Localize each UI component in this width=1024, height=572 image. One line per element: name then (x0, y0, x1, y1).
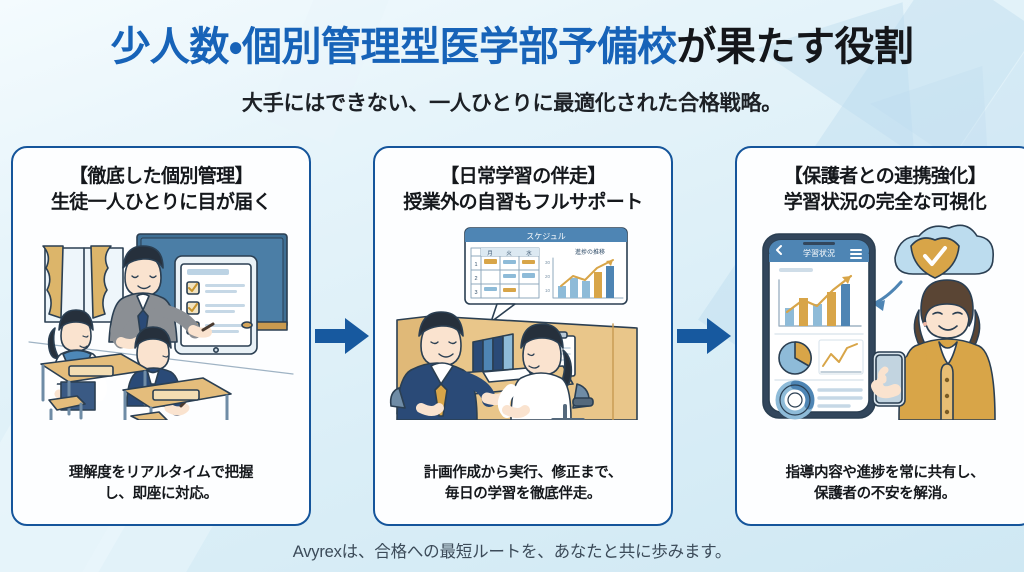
card-title-line1: 【徹底した個別管理】 (69, 166, 253, 187)
card-caption: 指導内容や進捗を常に共有し、 保護者の不安を解消。 (737, 463, 1024, 507)
footer-note: Avyrexは、合格への最短ルートを、あなたと共に歩みます。 (0, 538, 1024, 562)
card-title-line1: 【保護者との連携強化】 (784, 166, 986, 187)
card-caption-line2: 保護者の不安を解消。 (751, 484, 1019, 506)
feature-card-parent-collaboration: 【保護者との連携強化】 学習状況の完全な可視化 (735, 146, 1024, 526)
svg-text:水: 水 (526, 249, 532, 257)
progress-chart-title: 進捗の推移 (575, 248, 605, 256)
card-title-line2: 学習状況の完全な可視化 (784, 190, 986, 216)
page-title: 少人数・個別管理型医学部予備校が果たす役割 (0, 24, 1024, 71)
connector-arrow-2 (673, 146, 735, 526)
card-caption-line2: 毎日の学習を徹底伴走。 (389, 484, 657, 506)
connector-arrow-1 (311, 146, 373, 526)
page-header: 少人数・個別管理型医学部予備校が果たす役割 大手にはできない、一人ひとりに最適化… (0, 0, 1024, 117)
svg-text:月: 月 (487, 250, 493, 257)
svg-text:3: 3 (474, 290, 477, 296)
arrow-right-icon (315, 316, 369, 356)
card-caption-line1: 指導内容や進捗を常に共有し、 (786, 465, 985, 481)
app-header-title: 学習状況 (803, 248, 835, 258)
feature-cards-row: 【徹底した個別管理】 生徒一人ひとりに目が届く (0, 146, 1024, 526)
card-title-line2: 授業外の自習もフルサポート (403, 190, 642, 216)
svg-text:2: 2 (474, 276, 477, 282)
page-title-highlight: 少人数・個別管理型医学部予備校 (110, 25, 676, 69)
card-title: 【徹底した個別管理】 生徒一人ひとりに目が届く (51, 164, 271, 216)
classroom-teacher-tablet-checklist-illustration (25, 224, 297, 420)
card-title: 【日常学習の伴走】 授業外の自習もフルサポート (403, 164, 642, 216)
svg-text:火: 火 (506, 251, 512, 257)
svg-text:1: 1 (474, 262, 477, 268)
arrow-right-icon (677, 316, 731, 356)
card-caption-line1: 計画作成から実行、修正まで、 (424, 465, 622, 481)
smartphone-dashboard-parent-cloud-shield-illustration: 学習状況 (749, 224, 1021, 420)
page-subtitle: 大手にはできない、一人ひとりに最適化された合格戦略。 (0, 87, 1024, 117)
schedule-panel-title: スケジュル (526, 232, 565, 241)
svg-text:10: 10 (545, 288, 551, 293)
card-title-line2: 生徒一人ひとりに目が届く (51, 190, 271, 216)
card-caption: 理解度をリアルタイムで把握 し、即座に対応。 (13, 463, 309, 507)
svg-text:30: 30 (545, 260, 551, 265)
study-booth-tutor-student-schedule-panel-illustration: スケジュル 月 火 水 1 2 3 (387, 224, 659, 420)
feature-card-individual-management: 【徹底した個別管理】 生徒一人ひとりに目が届く (11, 146, 311, 526)
feature-card-daily-study-support: 【日常学習の伴走】 授業外の自習もフルサポート スケジュル (373, 146, 673, 526)
card-title: 【保護者との連携強化】 学習状況の完全な可視化 (784, 164, 986, 216)
card-caption: 計画作成から実行、修正まで、 毎日の学習を徹底伴走。 (375, 463, 671, 507)
card-caption-line2: し、即座に対応。 (27, 484, 295, 506)
svg-text:20: 20 (545, 274, 551, 279)
card-title-line1: 【日常学習の伴走】 (440, 166, 606, 187)
card-caption-line1: 理解度をリアルタイムで把握 (69, 465, 253, 481)
slide-canvas: 少人数・個別管理型医学部予備校が果たす役割 大手にはできない、一人ひとりに最適化… (0, 0, 1024, 572)
page-title-dark: が果たす役割 (677, 25, 914, 69)
